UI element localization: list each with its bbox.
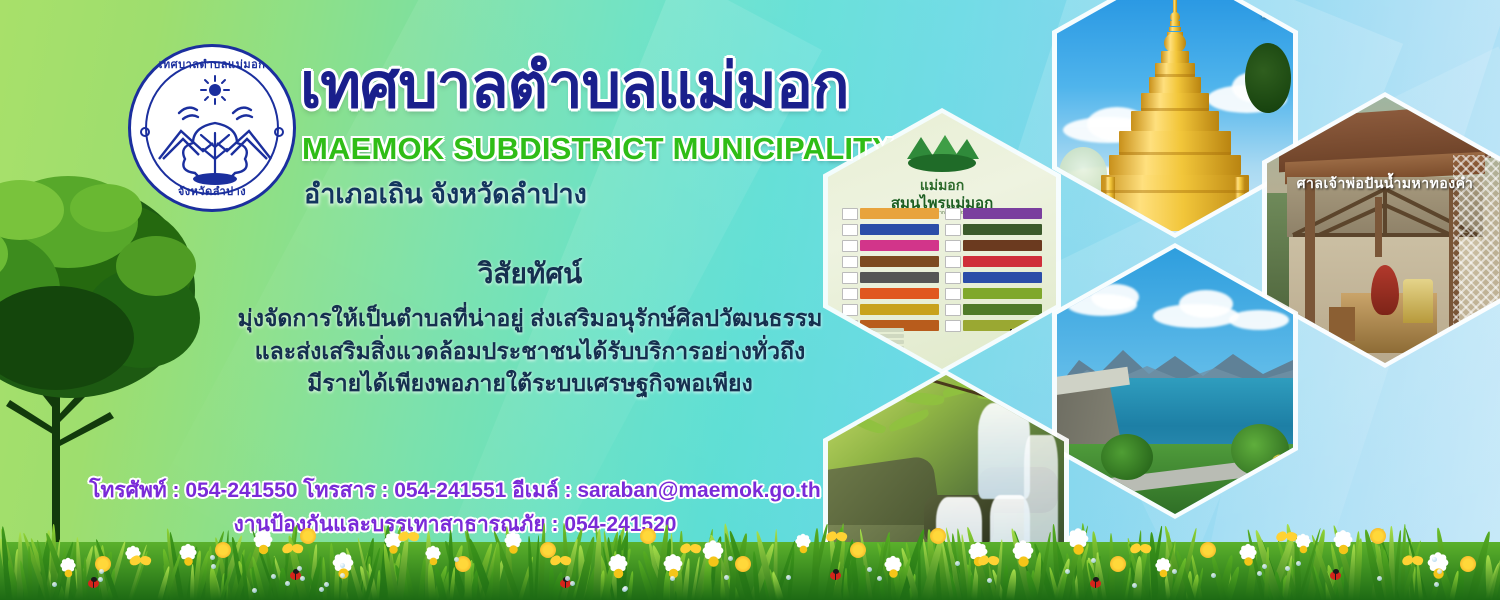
dew-drop: [623, 586, 628, 591]
product-item: [945, 223, 1042, 236]
dew-drop: [1257, 571, 1262, 576]
product-item: [945, 287, 1042, 300]
page-subtitle: อำเภอเถิน จังหวัดลำปาง: [304, 172, 587, 215]
shrine-sign-text: ศาลเจ้าพ่อปันน้ำมหาทองคำ: [1267, 173, 1500, 195]
white-daisy: [176, 549, 201, 574]
yellow-dandelion: [735, 556, 751, 572]
foliage-shape: [1101, 434, 1153, 480]
herb-product-row: [842, 303, 1042, 316]
dew-drop: [454, 557, 459, 562]
white-daisy: [1063, 534, 1093, 564]
hex-photo-golden-pagoda[interactable]: วัดพ บ้านกุ่ อำเภ: [1057, 0, 1293, 233]
dew-drop: [987, 578, 992, 583]
yellow-dandelion: [930, 528, 946, 544]
vision-line-2: และส่งเสริมสิ่งแวดล้อมประชาชนได้รับบริกา…: [190, 335, 870, 368]
product-item: [945, 255, 1042, 268]
municipality-emblem: เทศบาลตำบลแม่มอก จังหวัดลำปาง: [128, 44, 296, 212]
product-item: [842, 239, 939, 252]
herb-brand-logo-icon: [899, 129, 985, 175]
grass-flowers-border: [0, 508, 1500, 600]
dew-drop: [570, 581, 575, 586]
page-title-english: MAEMOK SUBDISTRICT MUNICIPALITY: [302, 132, 893, 166]
herb-product-row: [842, 271, 1042, 284]
white-daisy: [1008, 546, 1038, 576]
yellow-dandelion: [215, 542, 231, 558]
dew-drop: [324, 582, 329, 587]
dew-drop: [1437, 569, 1442, 574]
shrine-offering: [1403, 279, 1433, 323]
product-item: [842, 207, 939, 220]
dew-drop: [1132, 583, 1137, 588]
dew-drop: [300, 576, 305, 581]
yellow-dandelion: [1110, 556, 1126, 572]
herb-product-row: [842, 287, 1042, 300]
dew-drop: [728, 556, 733, 561]
product-item: [842, 271, 939, 284]
dew-drop: [285, 581, 290, 586]
ladybug: [1090, 579, 1101, 588]
sun-icon: [201, 76, 229, 104]
daisy-center: [1159, 569, 1167, 577]
daisy-center: [509, 545, 518, 554]
tree-icon: [183, 123, 247, 185]
product-item: [842, 223, 939, 236]
dew-drop: [1285, 566, 1290, 571]
daisy-center: [1244, 557, 1253, 566]
dew-drop: [1065, 569, 1070, 574]
emblem-top-text: เทศบาลตำบลแม่มอก: [131, 55, 293, 73]
shrine-post: [1305, 179, 1315, 339]
emblem-rosette-icon: [140, 127, 150, 137]
white-daisy: [792, 538, 814, 560]
dew-drop: [877, 576, 882, 581]
herb-product-row: [842, 223, 1042, 236]
bird-icon: [179, 108, 252, 119]
daisy-center: [1073, 544, 1083, 554]
white-daisy: [501, 537, 526, 562]
daisy-center: [1018, 556, 1028, 566]
white-daisy: [1152, 562, 1174, 584]
herb-product-row: [842, 255, 1042, 268]
daisy-center: [1338, 544, 1347, 553]
vision-heading: วิสัยทัศน์: [190, 252, 870, 296]
cloud-shape: [1179, 290, 1233, 318]
dew-drop: [52, 582, 57, 587]
golden-pagoda-shape: [1095, 0, 1255, 231]
daisy-center: [64, 569, 72, 577]
ladybug: [830, 571, 841, 580]
dew-drop: [98, 577, 103, 582]
yellow-dandelion: [1460, 556, 1476, 572]
product-item: [945, 207, 1042, 220]
dew-drop: [1262, 564, 1267, 569]
daisy-center: [889, 569, 898, 578]
herb-product-grid: [842, 207, 1042, 335]
emblem-artwork: [153, 73, 277, 191]
white-daisy: [604, 559, 631, 586]
white-daisy: [659, 559, 686, 586]
dew-drop: [724, 575, 729, 580]
contact-line-phone-fax-email[interactable]: โทรศัพท์ : 054-241550 โทรสาร : 054-24155…: [60, 474, 850, 508]
hex-photo-shrine[interactable]: ศาลเจ้าพ่อปันน้ำมหาทองคำ: [1267, 97, 1500, 363]
yellow-dandelion: [300, 528, 316, 544]
product-item: [842, 255, 939, 268]
dew-drop: [786, 575, 791, 580]
vision-line-3: มีรายได้เพียงพอภายใต้ระบบเศรษฐกิจพอเพียง: [190, 367, 870, 400]
pagoda-caption-village: บ้านกุ่: [1258, 0, 1283, 8]
dew-drop: [319, 587, 324, 592]
dew-drop: [1377, 576, 1382, 581]
vision-line-1: มุ่งจัดการให้เป็นตำบลที่น่าอยู่ ส่งเสริม…: [190, 302, 870, 335]
shrine-post: [1375, 197, 1382, 257]
product-item: [842, 287, 939, 300]
daisy-center: [389, 545, 398, 554]
yellow-dandelion: [850, 542, 866, 558]
white-daisy: [698, 546, 728, 576]
herb-product-row: [842, 207, 1042, 220]
page-title: เทศบาลตำบลแม่มอก: [300, 54, 848, 119]
white-daisy: [1236, 549, 1261, 574]
white-daisy: [1329, 535, 1356, 562]
white-daisy: [1292, 538, 1314, 560]
butterfly-wing: [407, 530, 421, 542]
product-item: [842, 303, 939, 316]
dew-drop: [1432, 557, 1437, 562]
daisy-center: [613, 568, 622, 577]
dew-drop: [1091, 558, 1096, 563]
vision-block: วิสัยทัศน์ มุ่งจัดการให้เป็นตำบลที่น่าอย…: [190, 252, 870, 400]
dew-drop: [210, 555, 215, 560]
dew-drop: [211, 564, 216, 569]
herb-product-row: [842, 239, 1042, 252]
white-daisy: [57, 562, 79, 584]
hex-photo-dam-reservoir[interactable]: [1057, 248, 1293, 514]
dew-drop: [955, 561, 960, 566]
dew-drop: [565, 576, 570, 581]
white-daisy: [249, 535, 276, 562]
dew-drop: [670, 576, 675, 581]
daisy-center: [1299, 545, 1307, 553]
daisy-center: [799, 545, 807, 553]
product-item: [945, 271, 1042, 284]
dew-drop: [1172, 569, 1177, 574]
daisy-center: [708, 556, 718, 566]
daisy-center: [184, 557, 193, 566]
dew-drop: [271, 574, 276, 579]
dew-drop: [1434, 582, 1439, 587]
white-daisy: [422, 550, 444, 572]
cloud-shape: [1229, 310, 1289, 330]
product-item: [945, 303, 1042, 316]
product-item: [945, 239, 1042, 252]
dew-drop: [1296, 561, 1301, 566]
yellow-dandelion: [1370, 528, 1386, 544]
dew-drop: [99, 569, 104, 574]
dew-drop: [340, 563, 345, 568]
daisy-center: [258, 544, 267, 553]
yellow-dandelion: [1200, 542, 1216, 558]
municipality-banner: เทศบาลตำบลแม่มอก จังหวัดลำปาง: [0, 0, 1500, 600]
white-daisy: [881, 561, 906, 586]
yellow-dandelion: [640, 528, 656, 544]
dew-drop: [297, 566, 302, 571]
dew-drop: [1211, 573, 1216, 578]
daisy-center: [429, 557, 437, 565]
dew-drop: [340, 573, 345, 578]
ladybug: [1330, 571, 1341, 580]
dew-drop: [252, 588, 257, 593]
dew-drop: [867, 567, 872, 572]
